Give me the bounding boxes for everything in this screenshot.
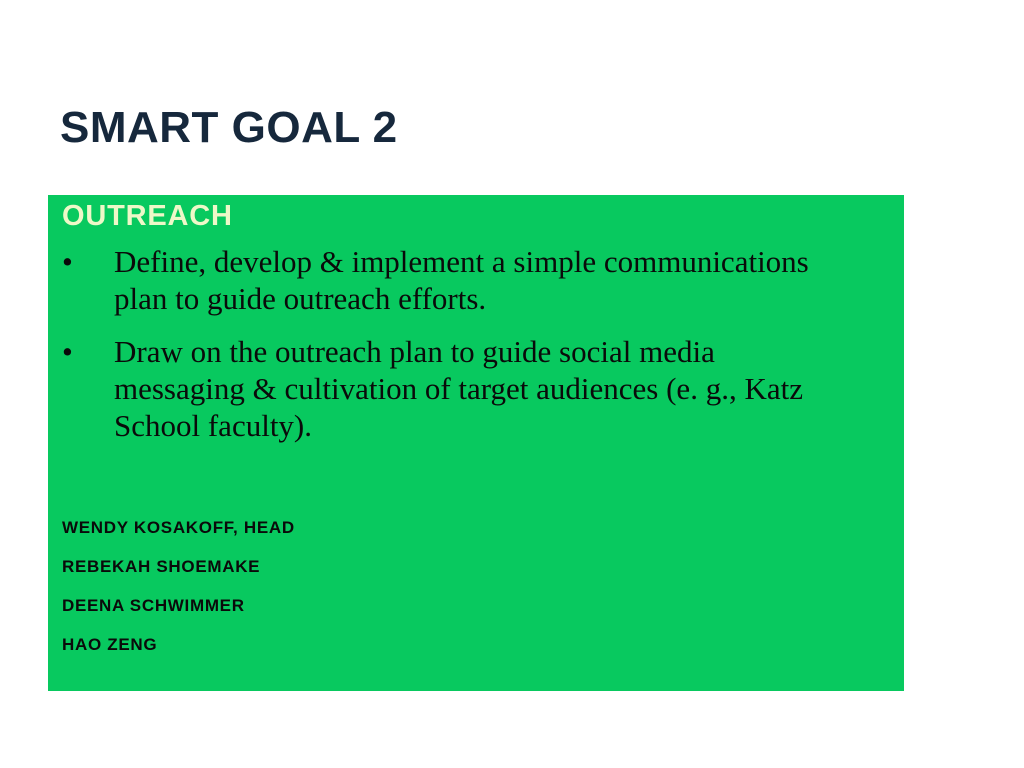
list-item: • Draw on the outreach plan to guide soc… <box>48 333 904 444</box>
list-item: WENDY KOSAKOFF, HEAD <box>48 508 904 547</box>
list-item: HAO ZENG <box>48 625 904 664</box>
team-member-list: WENDY KOSAKOFF, HEAD REBEKAH SHOEMAKE DE… <box>48 508 904 664</box>
page-title: SMART GOAL 2 <box>60 105 398 151</box>
presentation-slide: SMART GOAL 2 OUTREACH • Define, develop … <box>0 0 1024 768</box>
content-panel: OUTREACH • Define, develop & implement a… <box>48 195 904 691</box>
list-item: REBEKAH SHOEMAKE <box>48 547 904 586</box>
bullet-text: Define, develop & implement a simple com… <box>114 243 904 317</box>
bullet-list: • Define, develop & implement a simple c… <box>48 243 904 460</box>
bullet-point-icon: • <box>62 333 82 370</box>
bullet-text: Draw on the outreach plan to guide socia… <box>114 333 904 444</box>
list-item: • Define, develop & implement a simple c… <box>48 243 904 317</box>
bullet-point-icon: • <box>62 243 82 280</box>
panel-heading: OUTREACH <box>62 198 233 234</box>
list-item: DEENA SCHWIMMER <box>48 586 904 625</box>
